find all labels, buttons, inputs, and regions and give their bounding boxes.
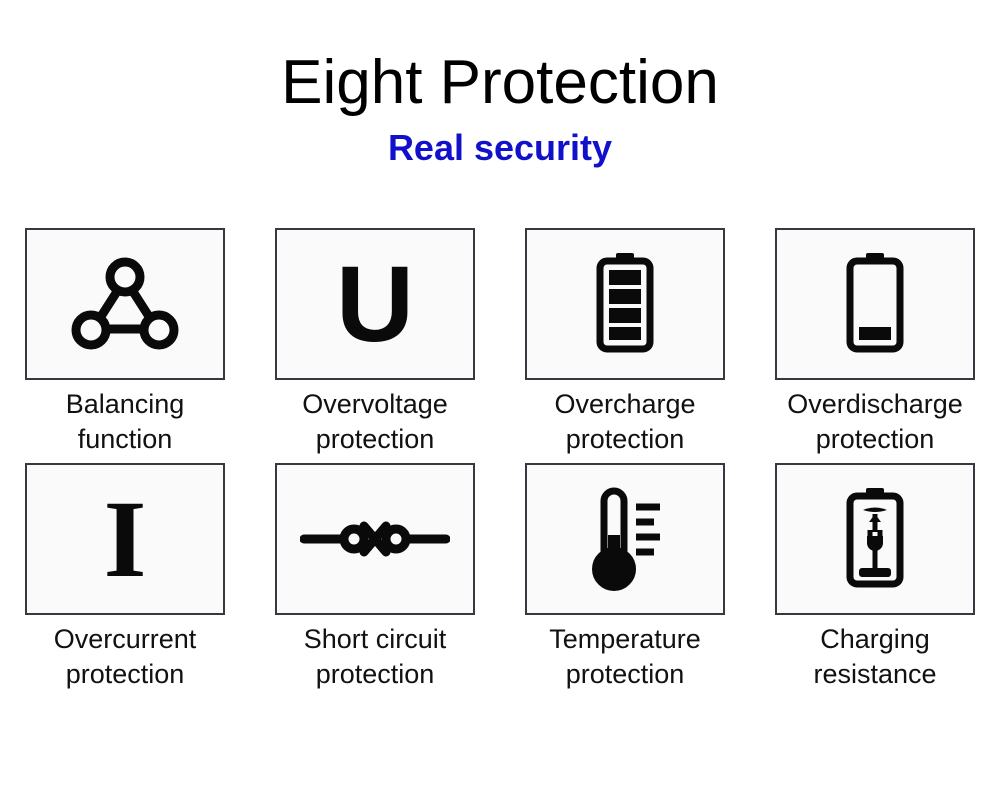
feature-cell-overcharge-protection[interactable]: Overcharge protection	[500, 228, 750, 456]
feature-caption: Overdischarge protection	[750, 387, 1000, 456]
feature-caption: Overcurrent protection	[0, 622, 250, 691]
page-header: Eight Protection Real security	[0, 0, 1000, 166]
icon-box-overcurrent-protection: I	[25, 463, 225, 615]
battery-full-icon	[590, 249, 660, 359]
icon-box-short-circuit-protection	[275, 463, 475, 615]
icon-box-temperature-protection	[525, 463, 725, 615]
feature-caption: Short circuit protection	[250, 622, 500, 691]
battery-low-icon	[840, 249, 910, 359]
feature-caption: Temperature protection	[500, 622, 750, 691]
feature-cell-overdischarge-protection[interactable]: Overdischarge protection	[750, 228, 1000, 456]
feature-row-2: I Overcurrent protection Short circuit	[0, 463, 1000, 691]
feature-cell-short-circuit-protection[interactable]: Short circuit protection	[250, 463, 500, 691]
page-subtitle: Real security	[0, 130, 1000, 166]
letter-u-icon: U	[336, 250, 414, 358]
balancing-network-icon	[65, 249, 185, 359]
icon-box-charging-resistance	[775, 463, 975, 615]
letter-i-icon: I	[104, 484, 147, 594]
thermometer-icon	[582, 483, 668, 595]
feature-caption: Charging resistance	[750, 622, 1000, 691]
page-title: Eight Protection	[0, 52, 1000, 114]
battery-charging-plug-icon	[840, 484, 910, 594]
feature-row-1: Balancing function U Overvoltage protect…	[0, 228, 1000, 456]
feature-caption: Balancing function	[0, 387, 250, 456]
feature-cell-temperature-protection[interactable]: Temperature protection	[500, 463, 750, 691]
feature-cell-charging-resistance[interactable]: Charging resistance	[750, 463, 1000, 691]
icon-box-balancing-function	[25, 228, 225, 380]
feature-caption: Overcharge protection	[500, 387, 750, 456]
icon-box-overdischarge-protection	[775, 228, 975, 380]
icon-box-overvoltage-protection: U	[275, 228, 475, 380]
feature-cell-balancing-function[interactable]: Balancing function	[0, 228, 250, 456]
feature-cell-overvoltage-protection[interactable]: U Overvoltage protection	[250, 228, 500, 456]
protection-feature-grid: Balancing function U Overvoltage protect…	[0, 228, 1000, 698]
feature-cell-overcurrent-protection[interactable]: I Overcurrent protection	[0, 463, 250, 691]
feature-caption: Overvoltage protection	[250, 387, 500, 456]
icon-box-overcharge-protection	[525, 228, 725, 380]
broken-circuit-icon	[300, 516, 450, 562]
